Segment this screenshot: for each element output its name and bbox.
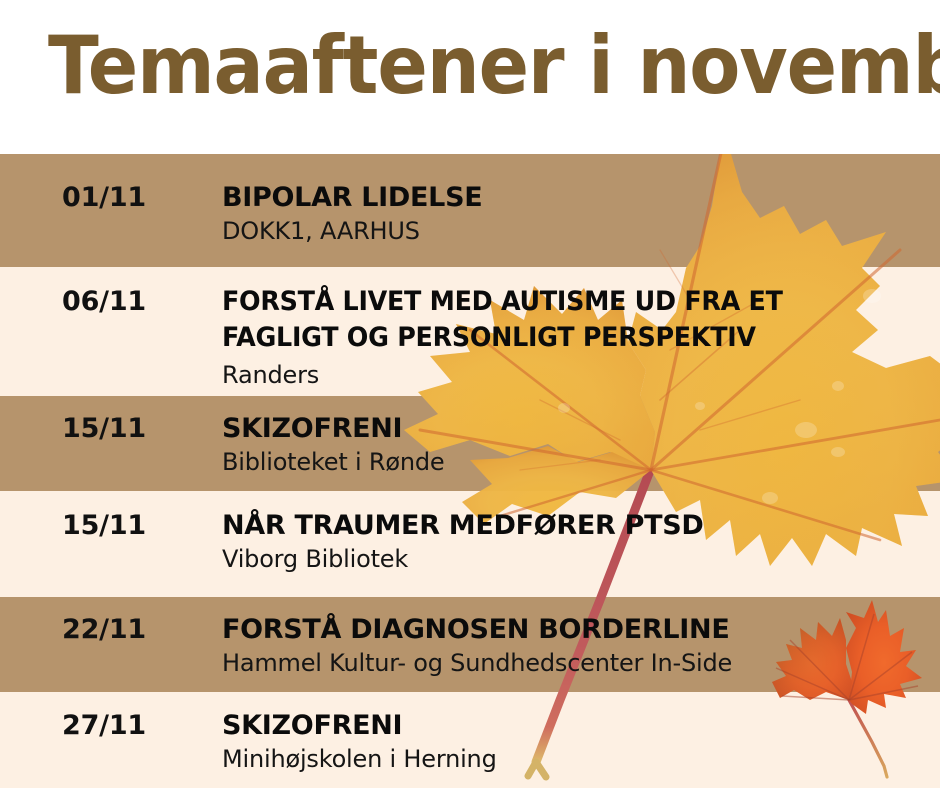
event-date: 15/11 bbox=[62, 510, 146, 541]
event-date: 01/11 bbox=[62, 182, 146, 213]
event-title: NÅR TRAUMER MEDFØRER PTSD bbox=[222, 508, 930, 544]
event-body: SKIZOFRENI Biblioteket i Rønde bbox=[222, 411, 930, 478]
event-row-2[interactable]: 06/11 FORSTÅ LIVET MED AUTISME UD FRA ET… bbox=[0, 267, 940, 396]
event-date: 06/11 bbox=[62, 286, 146, 317]
event-body: FORSTÅ DIAGNOSEN BORDERLINE Hammel Kultu… bbox=[222, 612, 930, 679]
event-venue: Hammel Kultur- og Sundhedscenter In-Side bbox=[222, 648, 930, 679]
event-body: SKIZOFRENI Minihøjskolen i Herning bbox=[222, 708, 930, 775]
event-row-3[interactable]: 15/11 SKIZOFRENI Biblioteket i Rønde bbox=[0, 396, 940, 491]
event-venue: Randers bbox=[222, 360, 930, 391]
event-title: FORSTÅ DIAGNOSEN BORDERLINE bbox=[222, 612, 930, 648]
event-title: BIPOLAR LIDELSE bbox=[222, 180, 930, 216]
event-body: BIPOLAR LIDELSE DOKK1, AARHUS bbox=[222, 180, 930, 247]
event-body: NÅR TRAUMER MEDFØRER PTSD Viborg Bibliot… bbox=[222, 508, 930, 575]
event-date: 27/11 bbox=[62, 710, 146, 741]
event-date: 22/11 bbox=[62, 614, 146, 645]
event-title: SKIZOFRENI bbox=[222, 411, 930, 447]
event-venue: Biblioteket i Rønde bbox=[222, 447, 930, 478]
event-title: SKIZOFRENI bbox=[222, 708, 930, 744]
event-row-1[interactable]: 01/11 BIPOLAR LIDELSE DOKK1, AARHUS bbox=[0, 154, 940, 267]
event-title: FORSTÅ LIVET MED AUTISME UD FRA ET FAGLI… bbox=[222, 284, 842, 356]
poster-canvas: Temaaftener i november 01/11 BIPOLAR LID… bbox=[0, 0, 940, 788]
event-row-4[interactable]: 15/11 NÅR TRAUMER MEDFØRER PTSD Viborg B… bbox=[0, 491, 940, 597]
event-list: 01/11 BIPOLAR LIDELSE DOKK1, AARHUS 06/1… bbox=[0, 0, 940, 788]
event-date: 15/11 bbox=[62, 413, 146, 444]
event-body: FORSTÅ LIVET MED AUTISME UD FRA ET FAGLI… bbox=[222, 284, 930, 392]
event-venue: DOKK1, AARHUS bbox=[222, 216, 930, 247]
event-row-6[interactable]: 27/11 SKIZOFRENI Minihøjskolen i Herning bbox=[0, 692, 940, 788]
event-venue: Minihøjskolen i Herning bbox=[222, 744, 930, 775]
event-venue: Viborg Bibliotek bbox=[222, 544, 930, 575]
event-row-5[interactable]: 22/11 FORSTÅ DIAGNOSEN BORDERLINE Hammel… bbox=[0, 597, 940, 692]
